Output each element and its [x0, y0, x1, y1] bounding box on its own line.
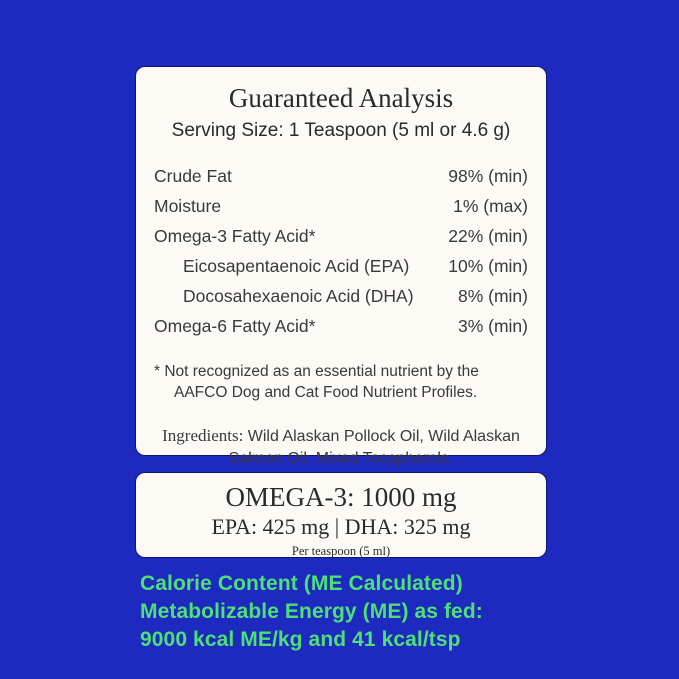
- table-row: Crude Fat 98% (min): [154, 162, 528, 192]
- per-teaspoon-note: Per teaspoon (5 ml): [154, 544, 528, 559]
- omega-3-headline: OMEGA-3: 1000 mg: [154, 482, 528, 512]
- nutrient-label: Moisture: [154, 192, 440, 222]
- nutrient-label: Omega-6 Fatty Acid*: [154, 312, 440, 342]
- nutrient-value: 3% (min): [440, 312, 528, 342]
- serving-size-text: Serving Size: 1 Teaspoon (5 ml or 4.6 g): [154, 120, 528, 143]
- omega-summary-card: OMEGA-3: 1000 mg EPA: 425 mg | DHA: 325 …: [135, 472, 547, 558]
- nutrient-value: 98% (min): [440, 162, 528, 192]
- guaranteed-analysis-card: Guaranteed Analysis Serving Size: 1 Teas…: [135, 66, 547, 456]
- ingredients-text: Ingredients: Wild Alaskan Pollock Oil, W…: [154, 424, 528, 470]
- aafco-footnote: * Not recognized as an essential nutrien…: [154, 361, 528, 404]
- nutrient-label: Docosahexaenoic Acid (DHA): [154, 282, 440, 312]
- footnote-line-1: * Not recognized as an essential nutrien…: [154, 363, 479, 380]
- table-row: Omega-6 Fatty Acid* 3% (min): [154, 312, 528, 342]
- nutrient-value: 22% (min): [440, 222, 528, 252]
- table-row: Eicosapentaenoic Acid (EPA) 10% (min): [154, 252, 528, 282]
- nutrient-value: 1% (max): [440, 192, 528, 222]
- nutrient-table: Crude Fat 98% (min) Moisture 1% (max) Om…: [154, 162, 528, 342]
- epa-dha-subline: EPA: 425 mg | DHA: 325 mg: [154, 514, 528, 539]
- nutrient-label: Eicosapentaenoic Acid (EPA): [154, 252, 440, 282]
- calorie-content-line-3: 9000 kcal ME/kg and 41 kcal/tsp: [140, 626, 560, 654]
- label-page: Guaranteed Analysis Serving Size: 1 Teas…: [0, 0, 679, 679]
- nutrient-value: 10% (min): [440, 252, 528, 282]
- ingredients-heading: Ingredients:: [162, 426, 243, 445]
- calorie-content-block: Calorie Content (ME Calculated) Metaboli…: [140, 570, 560, 654]
- table-row: Docosahexaenoic Acid (DHA) 8% (min): [154, 282, 528, 312]
- table-row: Moisture 1% (max): [154, 192, 528, 222]
- calorie-content-line-2: Metabolizable Energy (ME) as fed:: [140, 598, 560, 626]
- guaranteed-analysis-title: Guaranteed Analysis: [154, 83, 528, 114]
- nutrient-table-body: Crude Fat 98% (min) Moisture 1% (max) Om…: [154, 162, 528, 342]
- nutrient-value: 8% (min): [440, 282, 528, 312]
- footnote-line-2: AAFCO Dog and Cat Food Nutrient Profiles…: [158, 382, 528, 403]
- ingredients-body: Wild Alaskan Pollock Oil, Wild Alaskan S…: [229, 428, 520, 467]
- table-row: Omega-3 Fatty Acid* 22% (min): [154, 222, 528, 252]
- nutrient-label: Omega-3 Fatty Acid*: [154, 222, 440, 252]
- calorie-content-line-1: Calorie Content (ME Calculated): [140, 570, 560, 598]
- nutrient-label: Crude Fat: [154, 162, 440, 192]
